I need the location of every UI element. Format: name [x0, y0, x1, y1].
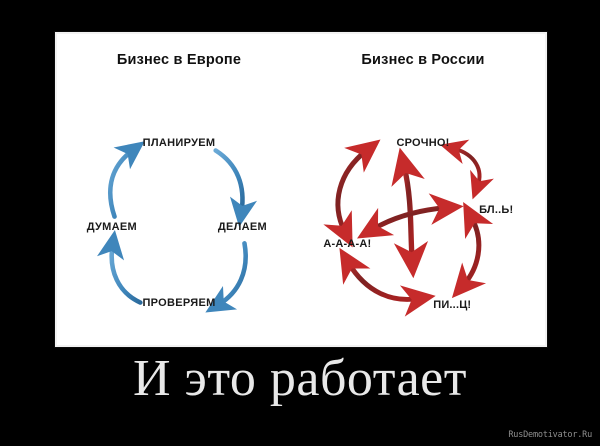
image-frame: Бизнес в Европе	[55, 32, 547, 347]
panel-russia-title: Бизнес в России	[301, 52, 545, 68]
node-aaaa: А-А-А-А!	[323, 238, 371, 250]
node-proveryaem: ПРОВЕРЯЕМ	[142, 297, 215, 309]
image-area: Бизнес в Европе	[57, 34, 545, 345]
panel-europe: Бизнес в Европе	[57, 34, 301, 345]
node-planiruem: ПЛАНИРУЕМ	[143, 137, 216, 149]
panel-russia: Бизнес в России	[301, 34, 545, 345]
node-blyad: БЛ..Ь!	[479, 204, 513, 216]
arrow-center-vertical	[404, 166, 412, 259]
panel-europe-title: Бизнес в Европе	[57, 52, 301, 68]
poster-caption: И это работает	[0, 352, 600, 407]
arrow-srochno-blyad	[454, 149, 480, 187]
arrow-planiruem-to-delaem	[216, 151, 243, 212]
demotivator-poster: Бизнес в Европе	[0, 0, 600, 446]
arrow-proveryaem-to-dumaem	[112, 245, 141, 302]
arrow-dumaem-to-planiruem	[110, 151, 132, 217]
node-srochno: СРОЧНО!	[397, 137, 450, 149]
arrow-delaem-to-proveryaem	[219, 243, 246, 304]
arrow-center-horizontal	[372, 208, 445, 230]
arrow-aaaa-srochno	[338, 151, 367, 232]
node-delaem: ДЕЛАЕМ	[218, 221, 267, 233]
watermark: RusDemotivator.Ru	[508, 430, 592, 440]
arrow-blyad-pizdec	[464, 218, 479, 285]
node-pizdec: ПИ...Ц!	[433, 299, 471, 311]
arrow-aaaa-pizdec	[349, 263, 418, 299]
node-dumaem: ДУМАЕМ	[87, 221, 137, 233]
russia-chaos-arrows	[301, 34, 545, 345]
